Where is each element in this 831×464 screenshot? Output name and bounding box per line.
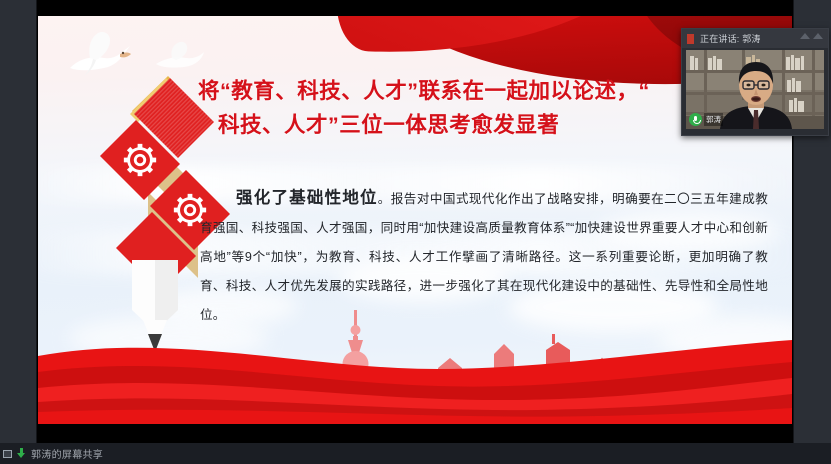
speaker-video-panel[interactable]: 正在讲话: 郭涛 xyxy=(681,28,829,136)
red-ribbon xyxy=(38,316,792,424)
speaker-badge: 郭涛 xyxy=(689,113,723,126)
app-chrome-left xyxy=(0,0,37,443)
collapse-icon[interactable] xyxy=(800,33,823,39)
app-chrome-bottom xyxy=(37,424,793,443)
window-icon[interactable] xyxy=(3,450,12,458)
taskbar: 郭涛的屏幕共享 xyxy=(0,443,831,464)
taskbar-window-label[interactable]: 郭涛的屏幕共享 xyxy=(31,446,103,461)
video-panel-title: 正在讲话: 郭涛 xyxy=(700,32,761,45)
speaker-name: 郭涛 xyxy=(704,113,723,126)
slide-title-line1: 将“教育、科技、人才”联系在一起加以论述，“ xyxy=(198,79,650,103)
app-chrome-top xyxy=(37,0,793,16)
flag-icon xyxy=(687,34,694,44)
screen-share-window: 将“教育、科技、人才”联系在一起加以论述，“ 科技、人才”三位一体思考愈发显著 … xyxy=(0,0,831,464)
video-feed[interactable]: 郭涛 xyxy=(686,50,824,129)
microphone-icon xyxy=(689,113,702,126)
video-panel-header[interactable]: 正在讲话: 郭涛 xyxy=(682,29,828,48)
presentation-slide: 将“教育、科技、人才”联系在一起加以论述，“ 科技、人才”三位一体思考愈发显著 … xyxy=(38,16,792,424)
slide-body-lead: 强化了基础性地位 xyxy=(236,189,378,207)
download-icon[interactable] xyxy=(16,448,27,460)
